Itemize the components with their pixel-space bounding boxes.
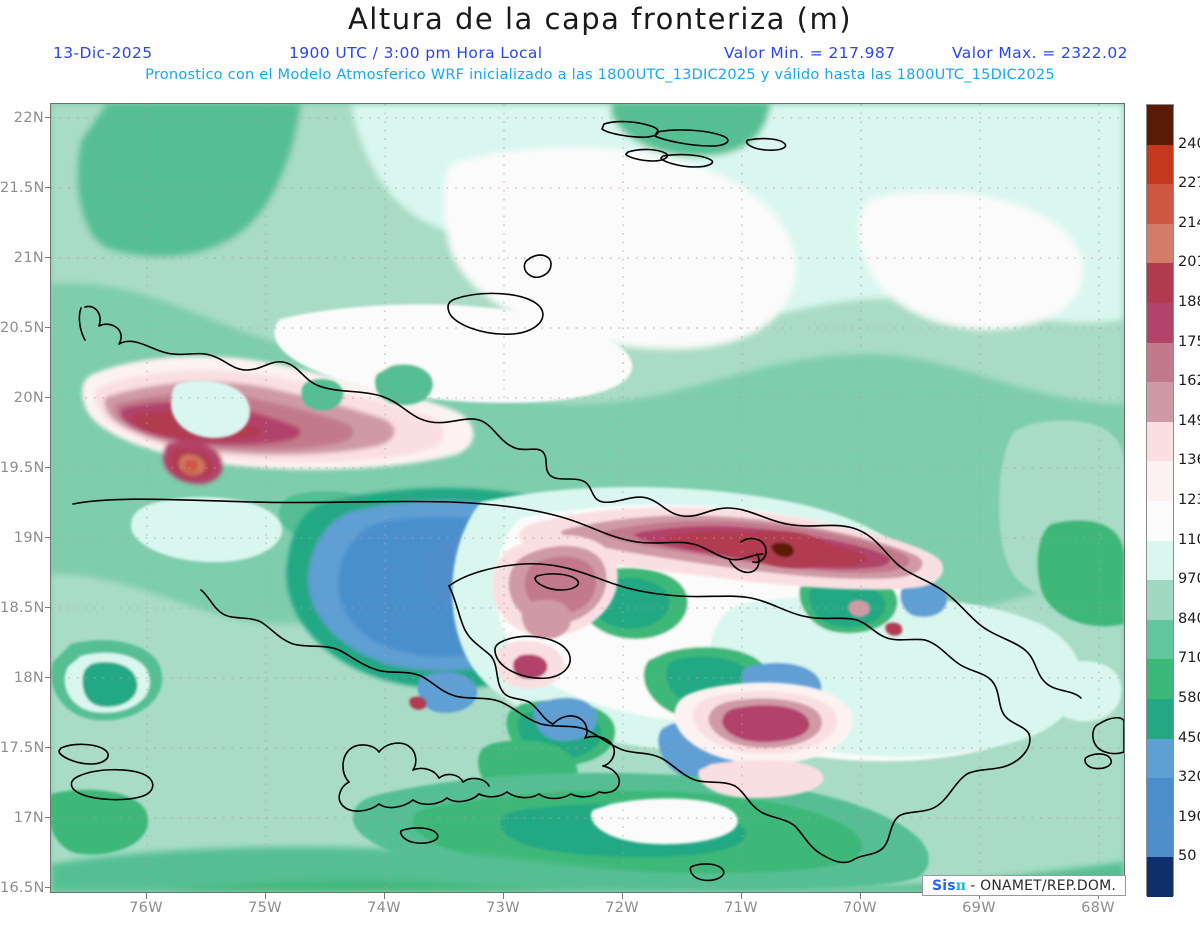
colorbar-segment	[1147, 184, 1173, 224]
y-tick-label-17.5N: 17.5N	[0, 740, 44, 756]
colorbar-segment	[1147, 461, 1173, 501]
x-tick-label-68W: 68W	[1068, 900, 1128, 916]
colorbar-tick-label: 1880	[1178, 294, 1200, 310]
colorbar-segment	[1147, 778, 1173, 818]
x-tick-label-71W: 71W	[711, 900, 771, 916]
colorbar-tick-label: 2270	[1178, 175, 1200, 191]
model-subtitle: Pronostico con el Modelo Atmosferico WRF…	[0, 66, 1200, 83]
header-info-line: 13-Dic-2025 1900 UTC / 3:00 pm Hora Loca…	[0, 44, 1200, 64]
colorbar-tick-label: 1230	[1178, 492, 1200, 508]
colorbar-tick-label: 450	[1178, 730, 1200, 746]
colorbar-segment	[1147, 580, 1173, 620]
colorbar-tick-label: 1490	[1178, 413, 1200, 429]
y-tick-label-19N: 19N	[0, 530, 44, 546]
logo-org-text: - ONAMET/REP.DOM.	[970, 878, 1116, 894]
y-tick-label-21.5N: 21.5N	[0, 180, 44, 196]
map-plot-area[interactable]	[50, 103, 1125, 893]
colorbar-tick-label: 320	[1178, 769, 1200, 785]
y-tick-label-17N: 17N	[0, 810, 44, 826]
colorbar-segment	[1147, 422, 1173, 462]
y-tick-label-19.5N: 19.5N	[0, 460, 44, 476]
colorbar-segment	[1147, 818, 1173, 858]
colorbar-tick-label: 710	[1178, 650, 1200, 666]
colorbar-tick-label: 2140	[1178, 215, 1200, 231]
colorbar-tick-label: 1620	[1178, 373, 1200, 389]
colorbar-segment	[1147, 699, 1173, 739]
colorbar-segment	[1147, 382, 1173, 422]
colorbar-tick-label: 190	[1178, 809, 1200, 825]
colorbar-segment	[1147, 541, 1173, 581]
value-min-label: Valor Min. = 217.987	[724, 44, 895, 62]
page-title: Altura de la capa fronteriza (m)	[0, 2, 1200, 36]
y-tick-label-18.5N: 18.5N	[0, 600, 44, 616]
x-tick-label-76W: 76W	[116, 900, 176, 916]
colorbar-tick-label: 50	[1178, 848, 1196, 864]
y-tick-label-22N: 22N	[0, 110, 44, 126]
logo-sis-text: Sis	[932, 878, 956, 894]
x-tick-label-75W: 75W	[235, 900, 295, 916]
colorbar-tick-label: 1100	[1178, 532, 1200, 548]
x-tick-label-74W: 74W	[354, 900, 414, 916]
y-tick-label-18N: 18N	[0, 670, 44, 686]
contour-fill-layer	[51, 104, 1124, 892]
colorbar-tick-label: 2010	[1178, 254, 1200, 270]
x-tick-label-70W: 70W	[830, 900, 890, 916]
colorbar-tick-label: 1360	[1178, 452, 1200, 468]
figure-root: Altura de la capa fronteriza (m) 13-Dic-…	[0, 0, 1200, 927]
colorbar-segment	[1147, 620, 1173, 660]
y-tick-label-21N: 21N	[0, 250, 44, 266]
colorbar-segment	[1147, 303, 1173, 343]
colorbar-segment	[1147, 105, 1173, 145]
y-tick-label-20N: 20N	[0, 390, 44, 406]
value-max-label: Valor Max. = 2322.02	[952, 44, 1128, 62]
x-tick-label-73W: 73W	[473, 900, 533, 916]
colorbar[interactable]	[1146, 104, 1174, 896]
colorbar-tick-label: 2400	[1178, 136, 1200, 152]
colorbar-segment	[1147, 501, 1173, 541]
colorbar-tick-label: 970	[1178, 571, 1200, 587]
y-tick-label-16.5N: 16.5N	[0, 880, 44, 896]
colorbar-segment	[1147, 857, 1173, 897]
logo-badge: Sisπ- ONAMET/REP.DOM.	[922, 875, 1126, 896]
colorbar-segment	[1147, 343, 1173, 383]
contour-map	[51, 104, 1124, 892]
logo-pi-icon: π	[956, 878, 966, 894]
colorbar-segment	[1147, 739, 1173, 779]
colorbar-segment	[1147, 659, 1173, 699]
colorbar-tick-label: 1750	[1178, 334, 1200, 350]
x-tick-label-72W: 72W	[592, 900, 652, 916]
colorbar-tick-label: 840	[1178, 611, 1200, 627]
colorbar-segment	[1147, 263, 1173, 303]
colorbar-segment	[1147, 224, 1173, 264]
forecast-time: 1900 UTC / 3:00 pm Hora Local	[289, 44, 543, 62]
y-tick-label-20.5N: 20.5N	[0, 320, 44, 336]
forecast-date: 13-Dic-2025	[53, 44, 153, 62]
colorbar-segment	[1147, 145, 1173, 185]
x-tick-label-69W: 69W	[949, 900, 1009, 916]
colorbar-tick-label: 580	[1178, 690, 1200, 706]
